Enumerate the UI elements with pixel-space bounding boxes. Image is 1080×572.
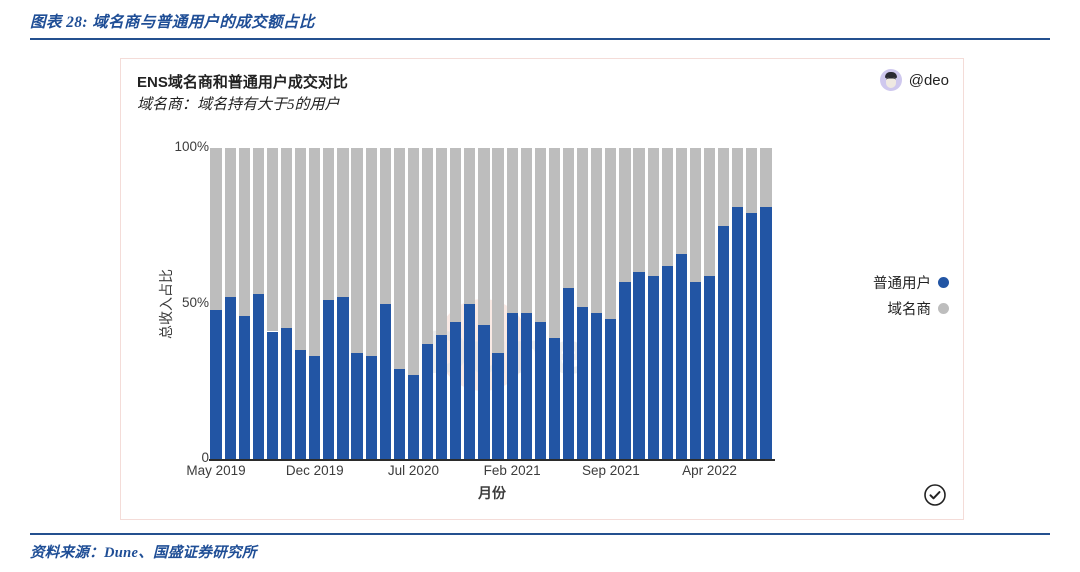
bar-column[interactable]: [704, 148, 715, 459]
bar-segment-user: [535, 322, 546, 459]
chart-title: ENS域名商和普通用户成交对比: [137, 71, 348, 92]
bar-segment-owner: [492, 148, 503, 353]
bar-segment-user: [408, 375, 419, 459]
bar-column[interactable]: [478, 148, 489, 459]
bar-column[interactable]: [225, 148, 236, 459]
bar-column[interactable]: [239, 148, 250, 459]
bar-column[interactable]: [436, 148, 447, 459]
bar-segment-user: [577, 307, 588, 459]
bar-segment-owner: [648, 148, 659, 276]
bar-segment-owner: [436, 148, 447, 335]
bar-segment-owner: [380, 148, 391, 304]
bar-segment-owner: [225, 148, 236, 297]
bar-segment-owner: [239, 148, 250, 316]
bar-segment-user: [507, 313, 518, 459]
legend-color-dot: [938, 277, 949, 288]
bar-column[interactable]: [648, 148, 659, 459]
bar-column[interactable]: [718, 148, 729, 459]
bar-segment-user: [633, 272, 644, 459]
y-axis: 总收入占比 100%50%0: [153, 144, 209, 464]
bar-segment-user: [267, 332, 278, 460]
bar-column[interactable]: [323, 148, 334, 459]
bar-segment-owner: [662, 148, 673, 266]
bar-segment-user: [295, 350, 306, 459]
bar-column[interactable]: [281, 148, 292, 459]
legend-color-dot: [938, 303, 949, 314]
bar-segment-owner: [746, 148, 757, 213]
bar-segment-user: [605, 319, 616, 459]
x-axis-title: 月份: [209, 483, 775, 503]
bar-segment-user: [436, 335, 447, 459]
bar-segment-user: [210, 310, 221, 459]
x-tick-label: Jul 2020: [388, 463, 439, 478]
figure-caption: 图表 28: 域名商与普通用户的成交额占比: [30, 10, 315, 32]
bar-segment-user: [337, 297, 348, 459]
bar-segment-user: [492, 353, 503, 459]
bar-segment-owner: [450, 148, 461, 322]
x-tick-label: Feb 2021: [484, 463, 541, 478]
bar-segment-user: [478, 325, 489, 459]
bar-column[interactable]: [492, 148, 503, 459]
bar-column[interactable]: [507, 148, 518, 459]
bar-segment-owner: [507, 148, 518, 313]
chart-legend: 普通用户域名商: [873, 272, 949, 324]
chart-card: ENS域名商和普通用户成交对比 域名商：域名持有大于5的用户 @deo 总收入占…: [120, 58, 964, 520]
bar-segment-user: [662, 266, 673, 459]
bar-column[interactable]: [351, 148, 362, 459]
bar-segment-owner: [422, 148, 433, 344]
x-tick-label: Sep 2021: [582, 463, 640, 478]
bar-column[interactable]: [422, 148, 433, 459]
bar-column[interactable]: [295, 148, 306, 459]
user-badge[interactable]: @deo: [880, 69, 949, 91]
y-axis-title: 总收入占比: [156, 229, 176, 379]
bar-segment-user: [619, 282, 630, 459]
bar-segment-owner: [253, 148, 264, 294]
check-circle-icon[interactable]: [923, 483, 947, 507]
bar-column[interactable]: [563, 148, 574, 459]
bar-segment-owner: [535, 148, 546, 322]
bar-column[interactable]: [633, 148, 644, 459]
plot-area: [209, 148, 773, 459]
bar-segment-user: [422, 344, 433, 459]
bar-segment-user: [394, 369, 405, 459]
bar-segment-owner: [281, 148, 292, 328]
bar-segment-user: [676, 254, 687, 459]
bar-column[interactable]: [690, 148, 701, 459]
bar-segment-user: [648, 276, 659, 459]
bar-segment-owner: [295, 148, 306, 350]
bar-segment-owner: [704, 148, 715, 276]
bar-segment-owner: [351, 148, 362, 353]
report-header: 图表 28: 域名商与普通用户的成交额占比: [30, 8, 1050, 42]
bar-column[interactable]: [662, 148, 673, 459]
bar-column[interactable]: [337, 148, 348, 459]
bar-column[interactable]: [394, 148, 405, 459]
bar-segment-user: [690, 282, 701, 459]
x-tick-label: Apr 2022: [682, 463, 737, 478]
bar-column[interactable]: [380, 148, 391, 459]
bar-column[interactable]: [521, 148, 532, 459]
legend-label: 普通用户: [873, 272, 931, 293]
bar-segment-user: [253, 294, 264, 459]
bar-column[interactable]: [619, 148, 630, 459]
bar-segment-user: [309, 356, 320, 459]
bar-segment-user: [549, 338, 560, 459]
bar-segment-user: [732, 207, 743, 459]
bar-segment-owner: [549, 148, 560, 338]
bar-segment-user: [281, 328, 292, 459]
x-axis-line: [209, 459, 775, 461]
bar-segment-user: [521, 313, 532, 459]
bar-segment-owner: [718, 148, 729, 226]
bar-column[interactable]: [591, 148, 602, 459]
bar-segment-owner: [563, 148, 574, 288]
avatar-icon: [880, 69, 902, 91]
bar-segment-owner: [478, 148, 489, 325]
bar-column[interactable]: [210, 148, 221, 459]
legend-label: 域名商: [888, 298, 932, 319]
bar-segment-owner: [605, 148, 616, 319]
bar-segment-owner: [732, 148, 743, 207]
header-divider: [30, 38, 1050, 40]
bar-segment-owner: [760, 148, 771, 207]
bar-segment-owner: [408, 148, 419, 375]
bar-segment-user: [225, 297, 236, 459]
bar-segment-user: [746, 213, 757, 459]
bar-column[interactable]: [309, 148, 320, 459]
legend-item[interactable]: 域名商: [873, 298, 949, 319]
bar-segment-user: [323, 300, 334, 459]
bar-column[interactable]: [577, 148, 588, 459]
bar-segment-owner: [366, 148, 377, 356]
bar-column[interactable]: [267, 148, 278, 459]
bar-segment-owner: [394, 148, 405, 369]
bar-column[interactable]: [366, 148, 377, 459]
x-tick-label: May 2019: [186, 463, 245, 478]
bar-column[interactable]: [605, 148, 616, 459]
y-tick-label: 100%: [174, 139, 209, 154]
bar-segment-owner: [323, 148, 334, 300]
bar-segment-owner: [267, 148, 278, 331]
bar-segment-user: [450, 322, 461, 459]
bar-column[interactable]: [676, 148, 687, 459]
bar-column[interactable]: [549, 148, 560, 459]
legend-item[interactable]: 普通用户: [873, 272, 949, 293]
bar-segment-owner: [591, 148, 602, 313]
bar-segment-owner: [676, 148, 687, 254]
source-line: 资料来源：Dune、国盛证券研究所: [30, 541, 257, 562]
bar-segment-owner: [210, 148, 221, 310]
y-tick-label: 50%: [182, 295, 209, 310]
bar-segment-user: [464, 304, 475, 460]
bar-column[interactable]: [746, 148, 757, 459]
bar-segment-owner: [577, 148, 588, 307]
bar-segment-owner: [619, 148, 630, 282]
bar-segment-user: [366, 356, 377, 459]
bar-segment-user: [563, 288, 574, 459]
bar-segment-owner: [690, 148, 701, 282]
bar-segment-user: [380, 304, 391, 460]
bar-segment-user: [704, 276, 715, 459]
user-handle-label: @deo: [909, 72, 949, 89]
bar-segment-user: [718, 226, 729, 459]
bar-column[interactable]: [535, 148, 546, 459]
bar-segment-user: [239, 316, 250, 459]
bar-column[interactable]: [464, 148, 475, 459]
bar-column[interactable]: [450, 148, 461, 459]
bar-segment-user: [591, 313, 602, 459]
bar-segment-owner: [521, 148, 532, 313]
chart-subtitle: 域名商：域名持有大于5的用户: [137, 93, 340, 114]
bar-segment-owner: [633, 148, 644, 272]
footer-divider: [30, 533, 1050, 535]
bar-segment-owner: [309, 148, 320, 356]
bar-segment-owner: [337, 148, 348, 297]
bar-column[interactable]: [253, 148, 264, 459]
x-tick-label: Dec 2019: [286, 463, 344, 478]
bar-segment-user: [760, 207, 771, 459]
bar-column[interactable]: [732, 148, 743, 459]
bar-segment-user: [351, 353, 362, 459]
bar-segment-owner: [464, 148, 475, 304]
bar-column[interactable]: [760, 148, 771, 459]
bar-column[interactable]: [408, 148, 419, 459]
